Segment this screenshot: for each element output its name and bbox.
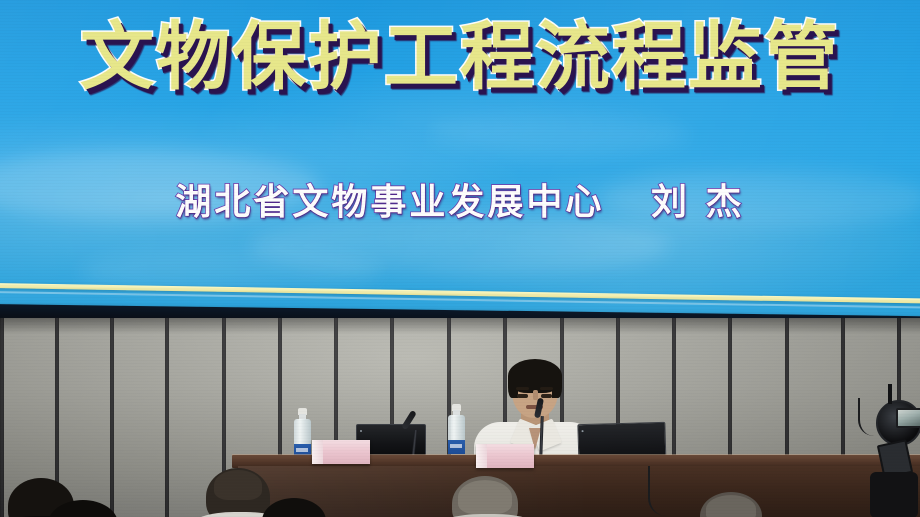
mic-capsule	[401, 410, 417, 430]
slide-subtitle: 湖北省文物事业发展中心 刘 杰	[0, 185, 920, 221]
audience-head-highlight	[214, 470, 262, 500]
mic-gooseneck	[412, 430, 418, 456]
projection-screen: 文物保护工程流程监管 湖北省文物事业发展中心 刘 杰	[0, 0, 920, 330]
water-bottle[interactable]	[448, 404, 465, 456]
podium-table-front	[238, 466, 920, 517]
placard-fold	[312, 440, 323, 464]
cloud-shape	[430, 115, 690, 155]
speaker-brow-right	[540, 387, 553, 390]
video-camera-rig[interactable]	[862, 384, 920, 517]
name-placard[interactable]	[312, 440, 370, 464]
speaker-brow-left	[516, 387, 529, 390]
bottle-body	[448, 415, 465, 454]
audience-head-highlight	[458, 480, 512, 514]
speaker-hair-side-right	[552, 372, 562, 398]
bottle-label	[448, 440, 465, 454]
camera-body	[870, 472, 918, 517]
name-placard[interactable]	[476, 444, 534, 468]
audience-head-highlight	[706, 495, 756, 517]
placard-fold	[476, 444, 487, 468]
mic-gooseneck	[539, 416, 543, 458]
screenshot-frame: 文物保护工程流程监管 湖北省文物事业发展中心 刘 杰	[0, 0, 920, 517]
laptop-webcam-icon	[582, 430, 584, 432]
tripod-mount	[888, 384, 892, 404]
slide-title: 文物保护工程流程监管	[0, 20, 920, 94]
camera-lcd-screen[interactable]	[896, 408, 920, 428]
power-cable	[648, 466, 666, 516]
water-bottle[interactable]	[294, 408, 311, 458]
bottle-body	[294, 419, 311, 458]
laptop-webcam-icon	[360, 430, 362, 432]
